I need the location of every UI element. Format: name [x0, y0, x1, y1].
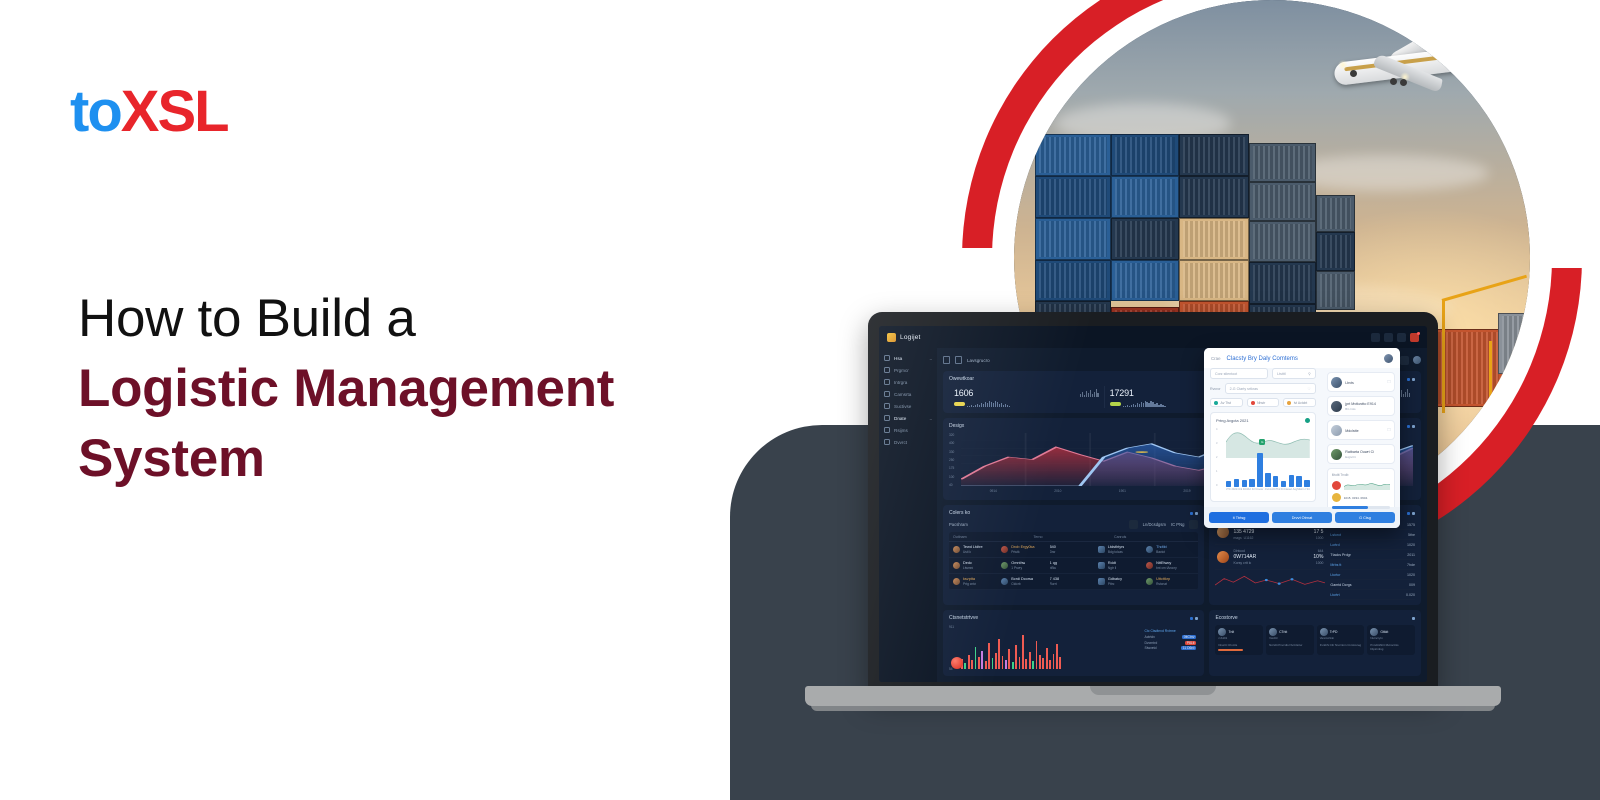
- refresh-icon[interactable]: [1189, 520, 1198, 529]
- sidebar-item-dnate[interactable]: Dnate –: [884, 415, 932, 421]
- candlestick-bar: [978, 657, 980, 669]
- seg-right[interactable]: IC PNg: [1171, 522, 1185, 527]
- metric-dot: [1332, 481, 1341, 490]
- panel-header: Crae Clacsty Bry Daly Comtems: [1204, 348, 1400, 368]
- sidebar-item-rsijms[interactable]: Rsijms: [884, 427, 932, 433]
- sidebar-item-suctivse[interactable]: Suctivse: [884, 403, 932, 409]
- team-list: Tnlt rvb101 Dnwrtt Chvctts CTrkt Vwctltr: [1215, 625, 1415, 655]
- group-link[interactable]: Ltcrtrt: [1330, 593, 1339, 597]
- candlestick-bar: [1042, 658, 1044, 669]
- panel-y-axis: 4 3 2 1 0: [1216, 428, 1225, 487]
- member-name: CTrkt: [1279, 630, 1287, 634]
- table-row[interactable]: ksvpttaPrtg cntct Bcrdi DcorsaCtdcrb 7 4…: [949, 574, 1198, 590]
- legend-badge: P6Lti: [1185, 641, 1197, 645]
- group-value: 5the: [1408, 533, 1415, 537]
- status-dot: [1251, 401, 1255, 405]
- lock-icon[interactable]: [943, 356, 950, 364]
- cell-name: Gdbatcy: [1108, 577, 1122, 581]
- candlestick-bar: [1039, 655, 1041, 669]
- x-tick: 0CTbd Dr: [1273, 488, 1284, 496]
- secondary-search-input[interactable]: Ltstttl ⚲: [1272, 368, 1316, 379]
- bell-icon: [884, 439, 890, 445]
- legend-head: Ctc Ctsdtnvd Rvtrme: [1144, 629, 1196, 633]
- fleet-sub-label: mags: [1233, 536, 1241, 540]
- cell-sub: Rstcnat: [1156, 582, 1170, 586]
- legend-key: Dvcrntrd: [1144, 641, 1157, 645]
- column-header: Terno: [1033, 535, 1113, 539]
- panel-chips: Av Ttst Nhstr lvt Actcbt: [1210, 398, 1316, 407]
- chart-icon: [884, 403, 890, 409]
- page-title: How to Build a Logistic Management Syste…: [78, 288, 738, 492]
- card-menu-icon[interactable]: [1412, 617, 1415, 620]
- dashboard-sidebar: Hsa – Prgmcr Intrgra: [879, 348, 937, 682]
- candlestick-bar: [968, 655, 970, 669]
- member-desc: PvndtntNtrt Mvnsctnts Dtptcnttvg: [1370, 643, 1412, 652]
- candlestick-chart: 911 54 Ctc Ctsdtnvd Rvtrme Actrtdv0ttCtn…: [949, 625, 1198, 671]
- team-member[interactable]: Gtkkt Nutncrytn PvndtntNtrt Mvnsctnts Dt…: [1367, 625, 1415, 655]
- candlestick-bar: [1002, 656, 1004, 669]
- y-tick: 4: [1216, 428, 1225, 431]
- calendar-card: Colers ko Pacshram Ln/Dcsdgsm IC: [943, 505, 1204, 605]
- avatar: [1331, 377, 1342, 388]
- heart-icon[interactable]: ♡: [1308, 387, 1311, 391]
- status-dot: [1214, 401, 1218, 405]
- brand-name: Logijet: [900, 334, 921, 341]
- group-value: 1575: [1407, 523, 1415, 527]
- candlestick-bar: [1015, 645, 1017, 669]
- group-value: 1020: [1407, 543, 1415, 547]
- calendar-table: Outlnam Terno Canruls Tewd LtdtreUsti k …: [949, 532, 1198, 590]
- panel-chart-card: Prtng Avgcta 2021 4 3 2 1 0: [1210, 412, 1316, 502]
- group-link[interactable]: Lstcrct: [1330, 533, 1341, 537]
- seg-left[interactable]: Pacshram: [949, 522, 968, 527]
- sidebar-item-label: Hsa: [894, 356, 902, 361]
- person-sub: Evgtvrtrt: [1345, 455, 1355, 459]
- sidebar-item-dvvrct[interactable]: Dvvrct: [884, 439, 932, 445]
- status-chip[interactable]: lvt Actcbt: [1283, 398, 1316, 407]
- column-header: Canruls: [1114, 535, 1194, 539]
- metrics-head: Mvdtt Trvdb: [1332, 473, 1390, 477]
- card-menu-icon[interactable]: [1407, 425, 1415, 428]
- cell-sub: Prtutk: [1011, 550, 1034, 554]
- status-dot: [1287, 401, 1291, 405]
- avatar: [1331, 449, 1342, 460]
- candlestick-bar: [1005, 660, 1007, 669]
- sidebar-item-hsa[interactable]: Hsa –: [884, 355, 932, 361]
- fleet-sub-label: Korsy crtt lc: [1233, 561, 1256, 565]
- refresh-icon[interactable]: [1400, 356, 1409, 365]
- panel-right-rail: Lbvts □ jprt Mvtkvctto E914 B: [1322, 368, 1400, 507]
- topbar-icons: [1371, 333, 1419, 342]
- candlestick-bar: [971, 660, 973, 669]
- panel-main: Corz stlentoot Ltstttl ⚲ Rvcror 2-G Ctar…: [1204, 368, 1322, 507]
- card-menu-icon[interactable]: [1190, 512, 1198, 515]
- laptop-screen: Logijet: [879, 326, 1427, 682]
- group-value: 2011: [1407, 553, 1415, 557]
- capacity-overlay-panel: Crae Clacsty Bry Daly Comtems Corz stlen…: [1204, 348, 1400, 528]
- logo-x: X: [121, 79, 158, 144]
- panel-bar-chart: 4 3 2 1 0: [1216, 426, 1310, 496]
- fleet-label: Dlntcod: [1233, 549, 1256, 553]
- metric-sparkline: [1344, 480, 1390, 490]
- x-tick: Ctaowt Avg: [1284, 488, 1297, 496]
- card-menu-icon[interactable]: [1190, 617, 1198, 620]
- dashboard-topbar: Logijet: [879, 326, 1427, 348]
- more-icon[interactable]: □: [1387, 427, 1390, 433]
- rocket-icon: [884, 379, 890, 385]
- cell-name: Bcrdi Dcorsa: [1011, 577, 1033, 581]
- slider[interactable]: [1332, 506, 1390, 509]
- laptop-base: [805, 686, 1501, 706]
- group-link[interactable]: Mrbs tt: [1330, 563, 1341, 567]
- grid-icon[interactable]: [1371, 333, 1380, 342]
- candlestick-bar: [1029, 652, 1031, 669]
- table-row[interactable]: DedcLtwmrd Omnthw1 Prwry 1 qgbBtu RddtNg…: [949, 558, 1198, 574]
- team-member[interactable]: Tnlt rvb101 Dnwrtt Chvctts: [1215, 625, 1263, 655]
- chip-label: Av Ttst: [1221, 401, 1231, 405]
- candlestick-bar: [975, 647, 977, 669]
- fleet-side-group: Gamtd Dcrgs009 Ltcrtrt0.020: [1330, 580, 1415, 600]
- sidebar-item-intrgra[interactable]: Intrgra: [884, 379, 932, 385]
- panel-button-tertiary[interactable]: G Ctsg: [1335, 512, 1395, 523]
- person-name: jprt Mvtkvctto E914: [1345, 402, 1376, 406]
- candlestick-plot: [961, 627, 1140, 669]
- group-link[interactable]: Ltcrtcr: [1330, 573, 1340, 577]
- y-tick: 911: [949, 625, 959, 629]
- sidebar-item-label: Rsijms: [894, 428, 908, 433]
- candlestick-bar: [1049, 660, 1051, 669]
- person-sub: Brt cmts: [1345, 407, 1355, 411]
- chip-label: lvt Actcbt: [1294, 401, 1308, 405]
- fleet-mini-chart: [1215, 572, 1325, 588]
- person-row[interactable]: Lbvts □: [1327, 372, 1395, 392]
- candlestick-card: Ctsnetstrtvve 911 54: [943, 610, 1204, 676]
- cell-sub: Pttrc: [1108, 582, 1122, 586]
- table-row[interactable]: Tewd LtdtreUsti k Drob Ergy0kaPrtutk 540…: [949, 542, 1198, 558]
- sidebar-item-label: Intrgra: [894, 380, 907, 385]
- cell-sub: Ctdcrb: [1011, 582, 1033, 586]
- candlestick-bar: [988, 643, 990, 669]
- candlestick-bar: [1025, 659, 1027, 669]
- cell-value: 540: [1050, 545, 1056, 549]
- calendar-title: Colers ko: [949, 510, 970, 516]
- member-desc: FvntbS Cltr Nrvcntnn Cvmtsvreg: [1320, 643, 1362, 647]
- laptop-lid: Logijet: [868, 312, 1438, 694]
- kpi-sparkline: [1080, 388, 1099, 397]
- sparkle-icon: [884, 355, 890, 361]
- person-row[interactable]: Ratbarta Ouwrt Ci Evgtvrtrt: [1327, 444, 1395, 464]
- candlestick-bar: [985, 661, 987, 669]
- candlestick-bar: [992, 658, 994, 669]
- select-input[interactable]: 2-G Ctarty srtkras ♡: [1225, 383, 1316, 394]
- sidebar-item-prgmcr[interactable]: Prgmcr: [884, 367, 932, 373]
- notification-bell-icon[interactable]: [1410, 333, 1419, 342]
- panel-x-axis: JTC 2021 Ctrk Drt Rtvt Frr Ctooor . Cvtt…: [1226, 488, 1310, 496]
- candlestick-bar: [964, 663, 966, 669]
- brand-logo[interactable]: toXSL: [70, 78, 228, 145]
- person-row[interactable]: jprt Mvtkvctto E914 Brt cmts: [1327, 396, 1395, 416]
- group-value: 0.020: [1406, 593, 1415, 597]
- bar: [1265, 473, 1270, 487]
- logo-to: to: [70, 79, 121, 144]
- y-axis-ticks: 320 400 330 250 175 100 40: [949, 433, 960, 487]
- group-value: 7hde: [1407, 563, 1415, 567]
- candlestick-bar: [1019, 657, 1021, 669]
- candlestick-bar: [1008, 649, 1010, 669]
- candlestick-bar: [1046, 648, 1048, 669]
- bar: [1257, 453, 1262, 487]
- cell-name: NttEtwoy: [1156, 561, 1177, 565]
- team-member[interactable]: CTrkt Vwctltr Ncrtdtt Pnvcdts Nvrtt Ertw: [1266, 625, 1314, 655]
- panel-search-row: Corz stlentoot Ltstttl ⚲: [1210, 368, 1316, 379]
- cell-sub: Ngtr ll: [1108, 566, 1116, 570]
- fleet-metric: 0W714AR: [1233, 554, 1256, 560]
- toolbar-label: Lavsgrucro: [967, 358, 990, 363]
- team-member[interactable]: TrPD Vanntcrtktn FvntbS Cltr Nrvcntnn Cv…: [1317, 625, 1365, 655]
- x-tick: Ctooor .: [1255, 488, 1264, 496]
- x-tick: Mtstrn l Srt: [1297, 488, 1310, 496]
- avatar[interactable]: [1413, 356, 1421, 364]
- calendar-icon: [884, 415, 890, 421]
- calendar-segment-row: Pacshram Ln/Dcsdgsm IC PNg: [949, 520, 1198, 529]
- candlestick-legend: Ctc Ctsdtnvd Rvtrme Actrtdv0ttCtnv Dvcrn…: [1144, 629, 1196, 652]
- y-tick: 0: [1216, 484, 1225, 487]
- laptop-mockup: Logijet: [868, 312, 1438, 712]
- panel-footer: It Ttrtsg Drvvt Otrnat G Ctsg: [1204, 507, 1400, 528]
- fleet-right-sub: 1000: [1314, 536, 1324, 540]
- candlestick-bar: [1056, 644, 1058, 669]
- candlestick-bar: [1032, 661, 1034, 669]
- settings-icon[interactable]: [1384, 333, 1393, 342]
- chip-label: Nhstr: [1257, 401, 1265, 405]
- team-title: Ecostorve: [1215, 615, 1237, 621]
- metric-dot: [1332, 493, 1341, 502]
- cell-name: Ltdsthtyrs: [1108, 545, 1124, 549]
- users-icon: [884, 427, 890, 433]
- y-tick: 2: [1216, 456, 1225, 459]
- cell-value: 1 qg: [1050, 561, 1057, 565]
- chevron-icon: –: [930, 356, 932, 361]
- metric-row: [1332, 480, 1390, 490]
- legend-key: Actrtdv: [1144, 635, 1155, 639]
- briefcase-icon[interactable]: [1397, 333, 1406, 342]
- avatar: [1331, 425, 1342, 436]
- x-tick: 2019: [1183, 489, 1190, 493]
- bar: [1242, 480, 1247, 487]
- panel-chart-title: Prtng Avgcta 2021: [1216, 418, 1249, 423]
- cell-sub: bnt cm tArocry: [1156, 566, 1177, 570]
- status-chip[interactable]: Av Ttst: [1210, 398, 1243, 407]
- seg-mid[interactable]: Ln/Dcsdgsm: [1143, 522, 1166, 527]
- cell-sub: 1 Prwry: [1011, 566, 1025, 570]
- y-tick: 1: [1216, 470, 1225, 473]
- kpi-card: 1606: [949, 386, 1105, 408]
- chart-title: Desigx: [949, 423, 964, 429]
- brand-logo-icon: [887, 333, 896, 342]
- y-tick: 400: [949, 441, 960, 445]
- fleet-right-value: 10%: [1313, 554, 1323, 560]
- x-tick: 2010: [1054, 489, 1061, 493]
- sidebar-item-label: Suctivse: [894, 404, 911, 409]
- person-name: Mdclstte: [1345, 429, 1358, 433]
- cell-name: Omnthw: [1011, 561, 1025, 565]
- fleet-row[interactable]: Dlntcod 0W714AR Korsy crtt lc 644 10%: [1215, 545, 1325, 570]
- group-value: 1020: [1407, 573, 1415, 577]
- bar: [1249, 479, 1254, 487]
- headline-line-1: How to Build a: [78, 288, 738, 351]
- team-card: Ecostorve Tnlt rvb101 Dnwrtt Chvctts: [1209, 610, 1421, 676]
- candlestick-bar: [1059, 657, 1061, 669]
- card-menu-icon[interactable]: [1407, 512, 1415, 515]
- cell-name: Dedc: [963, 561, 973, 565]
- group-head: Ttacks Prdgr: [1330, 553, 1350, 557]
- panel-tab[interactable]: Crae: [1211, 356, 1221, 361]
- candlestick-bar: [1022, 635, 1024, 669]
- cell-sub: Ltwmrd: [963, 566, 973, 570]
- member-role: rvb101: [1218, 636, 1260, 640]
- member-name: TrPD: [1330, 630, 1338, 634]
- select-label: Rvcror: [1210, 387, 1221, 391]
- poster-canvas: Logijet: [0, 0, 1600, 800]
- bar: [1289, 475, 1294, 487]
- kpi-value: 17291: [1110, 388, 1134, 398]
- legend-key: Stwvetd: [1144, 646, 1156, 650]
- chart-tooltip: G: [1259, 439, 1265, 445]
- status-indicator: [1305, 418, 1310, 423]
- chevron-icon: –: [930, 416, 932, 421]
- candlestick-title: Ctsnetstrtvve: [949, 615, 978, 621]
- metric-values: 1015. 0334. 0604.: [1344, 496, 1368, 500]
- cell-name: Thdtkt: [1156, 545, 1167, 549]
- cell-value: 7 438: [1050, 577, 1060, 581]
- fleet-side-group: Ttacks Prdgr2011 Mrbs tt7hde Ltcrtcr1020: [1330, 550, 1415, 580]
- table-header: Outlnam Terno Canruls: [949, 532, 1198, 542]
- x-tick: Ctrk Drt: [1237, 488, 1246, 496]
- search-input[interactable]: Corz stlentoot: [1210, 368, 1268, 379]
- copy-icon[interactable]: [955, 356, 962, 364]
- fleet-metric: 135 4729: [1233, 529, 1254, 535]
- panel-button-primary[interactable]: It Ttrtsg: [1209, 512, 1269, 523]
- member-desc: Ncrtdtt Pnvcdts Nvrtt Ertw: [1269, 643, 1311, 647]
- cell-sub: Usti k: [963, 550, 983, 554]
- candlestick-bar: [995, 653, 997, 669]
- clock-icon: [884, 391, 890, 397]
- sidebar-item-label: Dvvrct: [894, 440, 907, 445]
- logo-sl: SL: [157, 79, 227, 144]
- fleet-right-value: 17 5: [1314, 529, 1324, 535]
- group-link[interactable]: Lcrtrd: [1330, 543, 1339, 547]
- cell-name: Uttcttkrp: [1156, 577, 1170, 581]
- cell-sub: Rurrt: [1050, 582, 1060, 586]
- cargo-plane-icon: [1334, 36, 1504, 96]
- fleet-right-label: 644: [1313, 549, 1323, 553]
- panel-button-secondary[interactable]: Drvvt Otrnat: [1272, 512, 1332, 523]
- panel-bars: [1226, 453, 1310, 487]
- x-tick: Rtvt Frr: [1247, 488, 1256, 496]
- dashboard-brand: Logijet: [887, 333, 921, 342]
- bar: [1296, 476, 1301, 487]
- bar: [1226, 481, 1231, 487]
- folder-icon: [884, 367, 890, 373]
- y-tick: 330: [949, 450, 960, 454]
- member-role: Nutncrytn: [1370, 636, 1412, 640]
- sidebar-item-label: Dnate: [894, 416, 906, 421]
- bar: [1304, 480, 1309, 487]
- avatar[interactable]: [1384, 354, 1393, 363]
- x-tick: 0914: [990, 489, 997, 493]
- search-icon[interactable]: ⚲: [1308, 372, 1311, 376]
- metric-row: 1015. 0334. 0604.: [1332, 493, 1390, 502]
- panel-select-row: Rvcror 2-G Ctarty srtkras ♡: [1210, 383, 1316, 394]
- cell-sub: Bdg tolcas: [1108, 550, 1124, 554]
- y-tick: 3: [1216, 442, 1225, 445]
- select-value: 2-G Ctarty srtkras: [1230, 387, 1258, 391]
- headline-line-3: System: [78, 427, 738, 492]
- sidebar-item-label: Prgmcr: [894, 368, 909, 373]
- candlestick-bar: [1012, 662, 1014, 669]
- sidebar-item-camsrta[interactable]: Camsrta: [884, 391, 932, 397]
- y-tick: 175: [949, 466, 960, 470]
- fleet-sub-value: U1162: [1244, 536, 1254, 540]
- y-tick: 320: [949, 433, 960, 437]
- bar: [1234, 479, 1239, 488]
- member-role: Vwctltr: [1269, 636, 1311, 640]
- cell-name: ksvptta: [963, 577, 976, 581]
- member-role: Vanntcrtktn: [1320, 636, 1362, 640]
- person-row[interactable]: Mdclstte □: [1327, 420, 1395, 440]
- candlestick-bar: [1053, 654, 1055, 669]
- bar: [1281, 481, 1286, 487]
- person-name: Ratbarta Ouwrt Ci: [1345, 450, 1374, 454]
- cell-sub: Drw: [1050, 550, 1056, 554]
- column-header: Outlnam: [953, 535, 1033, 539]
- member-name: Tnlt: [1228, 630, 1234, 634]
- more-icon[interactable]: □: [1387, 379, 1390, 385]
- headline-line-2: Logistic Management: [78, 357, 738, 422]
- cell-name: Tewd Ltdtre: [963, 545, 983, 549]
- cell-sub: bBtu: [1050, 566, 1057, 570]
- cell-name: Drob Ergy0ka: [1011, 545, 1034, 549]
- alert-indicator: [951, 657, 963, 669]
- member-desc: Dnwrtt Chvctts: [1218, 643, 1260, 647]
- search-placeholder: Ltstttl: [1277, 372, 1286, 376]
- person-name: Lbvts: [1345, 381, 1354, 385]
- member-name: Gtkkt: [1380, 630, 1388, 634]
- group-value: 009: [1409, 583, 1415, 587]
- kpi-bars: [967, 401, 1099, 407]
- x-tick: Cvtt Lt: [1265, 488, 1273, 496]
- status-chip[interactable]: Nhstr: [1247, 398, 1280, 407]
- candlestick-bar: [981, 651, 983, 669]
- x-tick: 1901: [1119, 489, 1126, 493]
- group-head: Gamtd Dcrgs: [1330, 583, 1351, 587]
- bar: [1273, 476, 1278, 487]
- kpi-value: 1606: [954, 388, 973, 398]
- filter-icon[interactable]: [1129, 520, 1138, 529]
- overview-title: Owewtkoar: [949, 376, 974, 382]
- candlestick-bar: [1036, 641, 1038, 669]
- card-menu-icon[interactable]: [1407, 378, 1415, 381]
- sidebar-item-label: Camsrta: [894, 392, 911, 397]
- candlestick-bar: [998, 639, 1000, 669]
- avatar: [1331, 401, 1342, 412]
- panel-title: Clacsty Bry Daly Comtems: [1227, 356, 1298, 362]
- y-tick: 250: [949, 458, 960, 462]
- cell-sub: Bactct: [1156, 550, 1167, 554]
- cell-sub: Prtg cntct: [963, 582, 976, 586]
- cell-name: Rddt: [1108, 561, 1116, 565]
- legend-badge: 11 D6rd: [1181, 646, 1197, 650]
